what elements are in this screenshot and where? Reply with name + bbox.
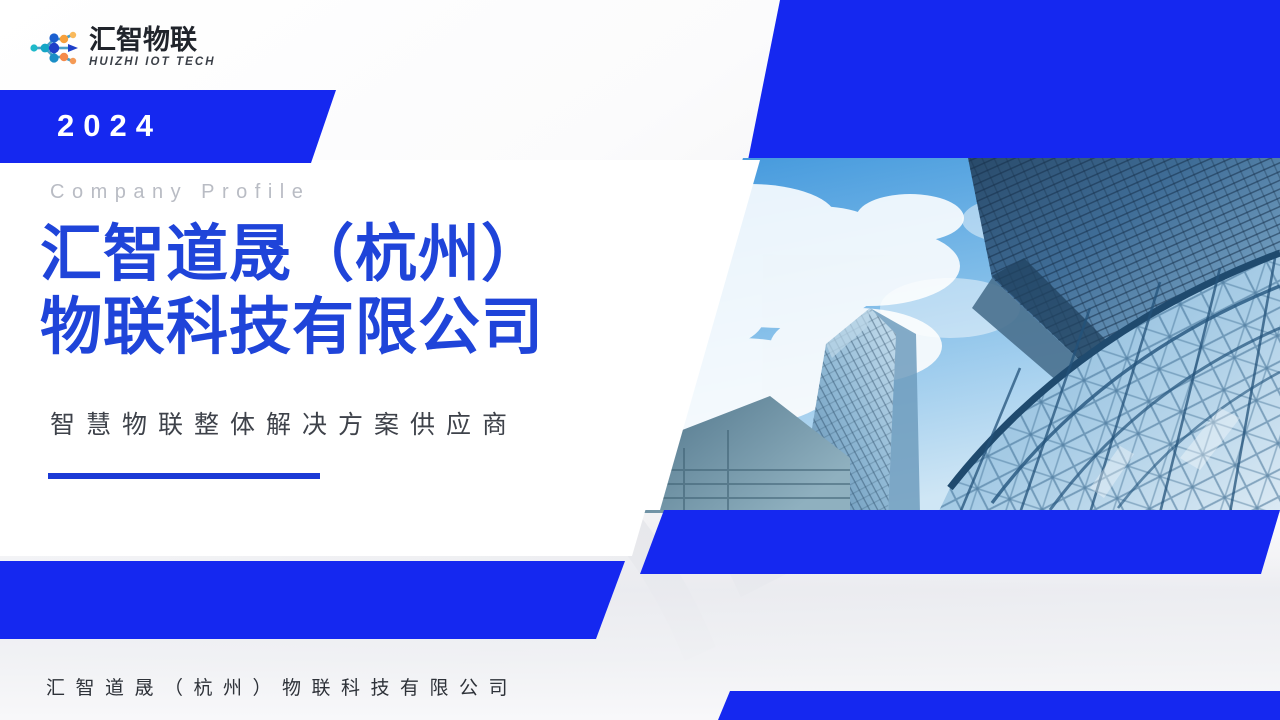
page-title: 汇智道晟（杭州） 物联科技有限公司	[40, 218, 700, 363]
content-panel-lower	[0, 508, 660, 556]
blue-band-bottom-left	[0, 561, 625, 639]
logo-english-name: HUIZHI IOT TECH	[89, 57, 216, 69]
page-title-line-1: 汇智道晟（杭州）	[40, 218, 700, 291]
year-badge-shape	[0, 90, 336, 163]
molecule-network-icon	[28, 27, 82, 69]
blue-band-under-photo	[640, 510, 1280, 574]
year-label: 2024	[57, 108, 162, 144]
logo-text-block: 汇智物联 HUIZHI IOT TECH	[89, 27, 216, 69]
eyebrow-text: Company Profile	[50, 181, 310, 204]
footer-company-name: 汇智道晟（杭州）物联科技有限公司	[46, 673, 518, 700]
slide-canvas: 2024 汇智	[0, 0, 1280, 720]
blue-band-top-right	[748, 0, 1280, 160]
company-logo[interactable]: 汇智物联 HUIZHI IOT TECH	[28, 22, 228, 74]
page-subtitle: 智慧物联整体解决方案供应商	[50, 405, 518, 441]
page-title-line-2: 物联科技有限公司	[40, 291, 700, 364]
accent-rule	[48, 473, 320, 479]
logo-chinese-name: 汇智物联	[89, 27, 216, 54]
blue-band-bottom-right	[718, 691, 1280, 720]
